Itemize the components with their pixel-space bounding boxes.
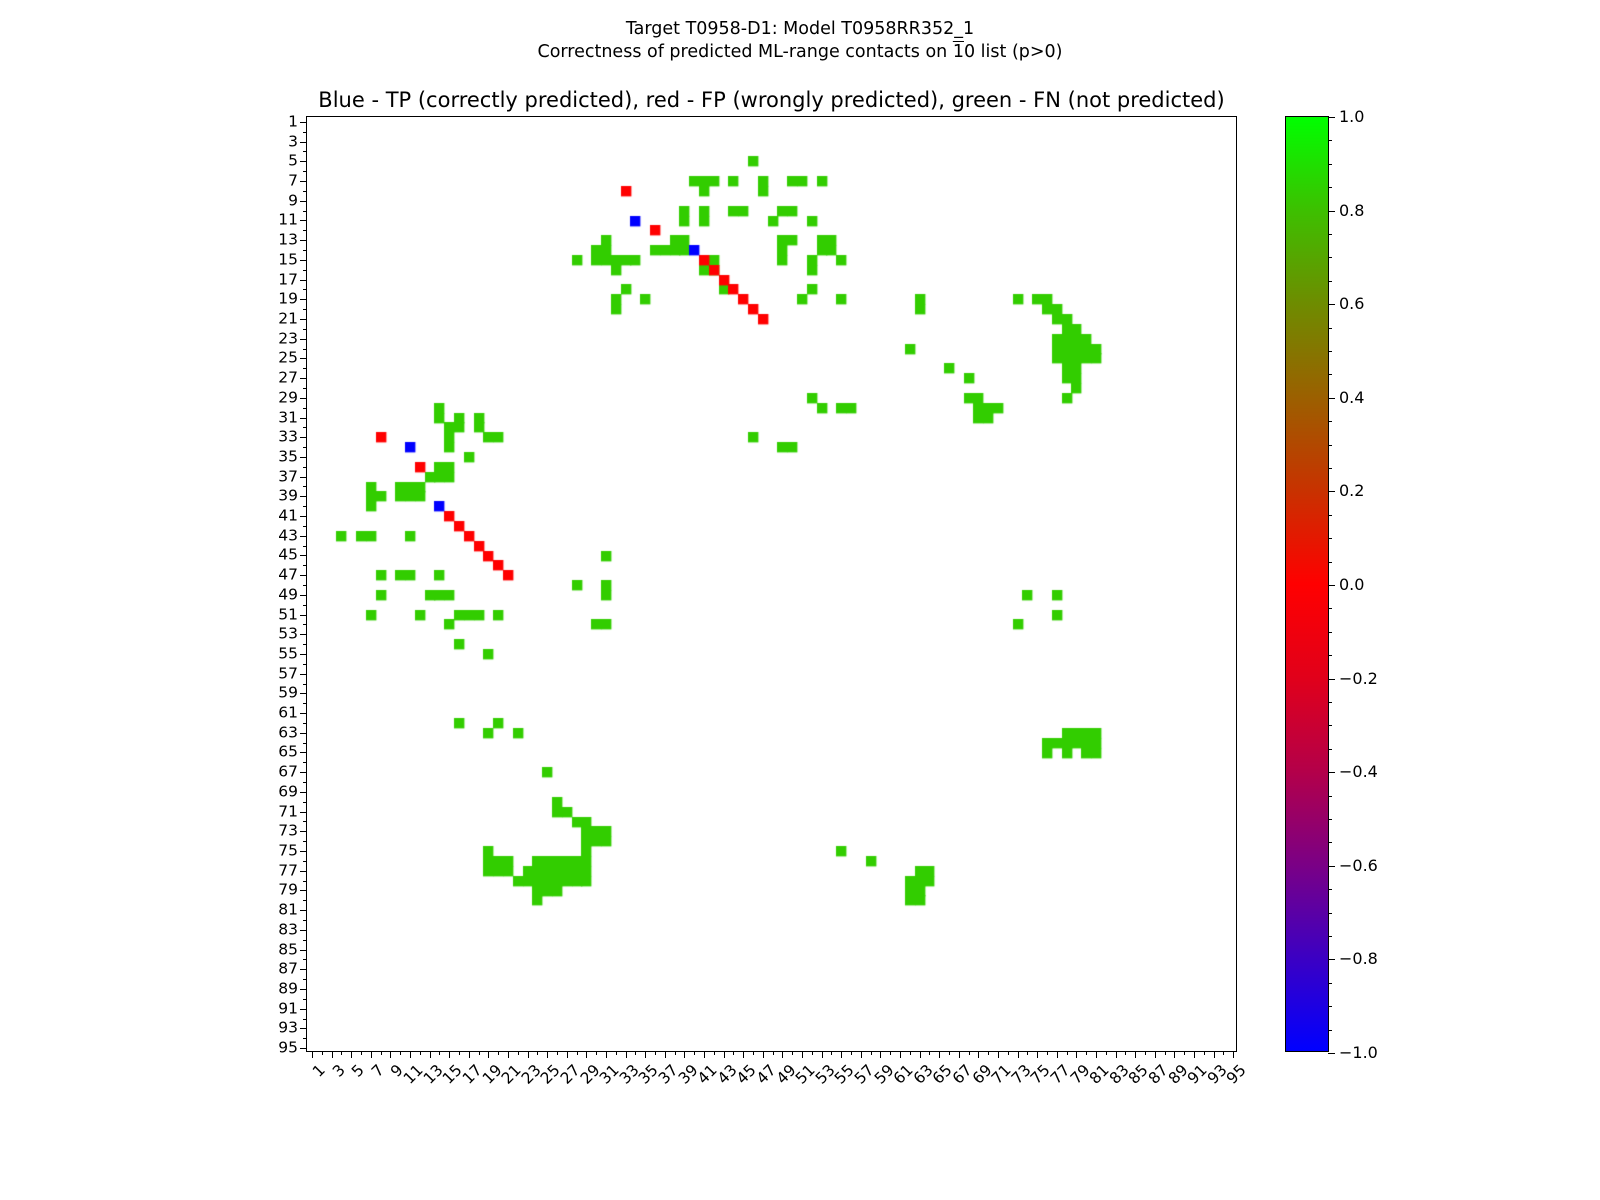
y-tick-minor xyxy=(303,841,307,842)
y-tick-major xyxy=(300,496,307,497)
y-tick-major xyxy=(300,989,307,990)
y-tick-minor xyxy=(303,270,307,271)
x-tick-major xyxy=(978,1051,979,1058)
x-tick-major xyxy=(1076,1051,1077,1058)
y-tick-major xyxy=(300,752,307,753)
colorbar-tick xyxy=(1328,679,1335,680)
y-tick-major xyxy=(300,437,307,438)
x-tick-major xyxy=(802,1051,803,1058)
y-tick-minor xyxy=(303,486,307,487)
colorbar-tick-minor xyxy=(1328,1030,1332,1031)
y-tick-label: 91 xyxy=(278,1001,298,1017)
x-tick-major xyxy=(822,1051,823,1058)
x-tick-minor xyxy=(910,1051,911,1055)
y-tick-major xyxy=(300,772,307,773)
colorbar-tick-minor xyxy=(1328,842,1332,843)
x-tick-major xyxy=(606,1051,607,1058)
y-tick-label: 55 xyxy=(278,646,298,662)
y-tick-minor xyxy=(303,881,307,882)
y-tick-label: 71 xyxy=(278,804,298,820)
x-tick-major xyxy=(684,1051,685,1058)
y-tick-major xyxy=(300,299,307,300)
y-tick-label: 17 xyxy=(278,272,298,288)
y-tick-label: 39 xyxy=(278,489,298,505)
colorbar-tick-minor xyxy=(1328,655,1332,656)
x-tick-minor xyxy=(1125,1051,1126,1055)
x-tick-minor xyxy=(753,1051,754,1055)
x-tick-major xyxy=(880,1051,881,1058)
y-tick-major xyxy=(300,201,307,202)
x-tick-major xyxy=(586,1051,587,1058)
y-tick-minor xyxy=(303,349,307,350)
y-tick-label: 13 xyxy=(278,232,298,248)
y-tick-major xyxy=(300,969,307,970)
contact-map-canvas[interactable] xyxy=(307,117,1238,1053)
x-tick-major xyxy=(469,1051,470,1058)
y-tick-minor xyxy=(303,250,307,251)
colorbar-tick-minor xyxy=(1328,234,1332,235)
y-tick-major xyxy=(300,930,307,931)
colorbar-tick xyxy=(1328,772,1335,773)
colorbar-tick-minor xyxy=(1328,374,1332,375)
y-tick-major xyxy=(300,260,307,261)
y-tick-label: 85 xyxy=(278,942,298,958)
x-tick-major xyxy=(332,1051,333,1058)
y-tick-minor xyxy=(303,900,307,901)
y-tick-major xyxy=(300,950,307,951)
suptitle-line-2: Correctness of predicted ML-range contac… xyxy=(0,41,1600,64)
x-tick-minor xyxy=(381,1051,382,1055)
x-tick-major xyxy=(390,1051,391,1058)
y-tick-label: 51 xyxy=(278,607,298,623)
x-tick-minor xyxy=(361,1051,362,1055)
x-tick-minor xyxy=(1165,1051,1166,1055)
x-tick-major xyxy=(724,1051,725,1058)
x-tick-major xyxy=(449,1051,450,1058)
colorbar-tick xyxy=(1328,866,1335,867)
x-tick-major xyxy=(1018,1051,1019,1058)
y-tick-minor xyxy=(303,861,307,862)
x-tick-minor xyxy=(1184,1051,1185,1055)
y-tick-minor xyxy=(303,664,307,665)
y-tick-major xyxy=(300,516,307,517)
y-tick-major xyxy=(300,1028,307,1029)
colorbar-tick-label: 0.4 xyxy=(1339,390,1364,406)
colorbar-tick xyxy=(1328,211,1335,212)
x-tick-major xyxy=(1096,1051,1097,1058)
y-tick-minor xyxy=(303,999,307,1000)
x-tick-minor xyxy=(812,1051,813,1055)
y-tick-major xyxy=(300,181,307,182)
y-tick-minor xyxy=(303,546,307,547)
colorbar-tick-minor xyxy=(1328,421,1332,422)
x-tick-major xyxy=(488,1051,489,1058)
x-tick-minor xyxy=(714,1051,715,1055)
y-tick-major xyxy=(300,1009,307,1010)
axes-title: Blue - TP (correctly predicted), red - F… xyxy=(306,88,1237,112)
suptitle-line-1: Target T0958-D1: Model T0958RR352_1 xyxy=(0,18,1600,41)
y-tick-minor xyxy=(303,467,307,468)
y-tick-major xyxy=(300,457,307,458)
colorbar-tick-label: −0.2 xyxy=(1339,671,1378,687)
y-tick-minor xyxy=(303,171,307,172)
x-tick-minor xyxy=(733,1051,734,1055)
x-tick-major xyxy=(410,1051,411,1058)
y-tick-label: 9 xyxy=(288,193,298,209)
x-tick-minor xyxy=(851,1051,852,1055)
colorbar-tick-minor xyxy=(1328,749,1332,750)
x-tick-minor xyxy=(1086,1051,1087,1055)
colorbar-tick-minor xyxy=(1328,328,1332,329)
y-tick-label: 29 xyxy=(278,390,298,406)
colorbar-tick-minor xyxy=(1328,187,1332,188)
x-tick-major xyxy=(1135,1051,1136,1058)
suptitle-line-2-pre: Correctness of predicted ML-range contac… xyxy=(537,42,952,62)
y-tick-minor xyxy=(303,821,307,822)
y-tick-minor xyxy=(303,743,307,744)
y-tick-major xyxy=(300,693,307,694)
x-tick-major xyxy=(959,1051,960,1058)
y-tick-major xyxy=(300,418,307,419)
colorbar-tick-minor xyxy=(1328,983,1332,984)
y-tick-minor xyxy=(303,979,307,980)
y-tick-label: 87 xyxy=(278,962,298,978)
y-tick-minor xyxy=(303,624,307,625)
colorbar-tick-minor xyxy=(1328,164,1332,165)
y-tick-minor xyxy=(303,959,307,960)
x-tick-major xyxy=(998,1051,999,1058)
x-tick-minor xyxy=(831,1051,832,1055)
y-tick-minor xyxy=(303,1019,307,1020)
y-tick-major xyxy=(300,792,307,793)
y-tick-label: 79 xyxy=(278,883,298,899)
x-tick-major xyxy=(351,1051,352,1058)
colorbar-tick-minor xyxy=(1328,468,1332,469)
y-tick-minor xyxy=(303,191,307,192)
x-tick-minor xyxy=(675,1051,676,1055)
x-tick-major xyxy=(1194,1051,1195,1058)
colorbar-tick-minor xyxy=(1328,1006,1332,1007)
colorbar-tick-label: 0.8 xyxy=(1339,203,1364,219)
colorbar[interactable]: 1.00.80.60.40.20.0−0.2−0.4−0.6−0.8−1.0 xyxy=(1285,116,1329,1052)
y-tick-major xyxy=(300,910,307,911)
y-tick-minor xyxy=(303,565,307,566)
y-tick-minor xyxy=(303,920,307,921)
x-tick-minor xyxy=(890,1051,891,1055)
y-tick-minor xyxy=(303,526,307,527)
y-tick-label: 43 xyxy=(278,528,298,544)
colorbar-tick-minor xyxy=(1328,702,1332,703)
colorbar-tick-minor xyxy=(1328,538,1332,539)
y-tick-label: 75 xyxy=(278,843,298,859)
x-tick-minor xyxy=(871,1051,872,1055)
y-tick-minor xyxy=(303,684,307,685)
x-tick-major xyxy=(704,1051,705,1058)
y-tick-label: 95 xyxy=(278,1040,298,1056)
colorbar-tick-minor xyxy=(1328,889,1332,890)
x-tick-major xyxy=(939,1051,940,1058)
x-tick-label: 5 xyxy=(350,1062,368,1080)
colorbar-tick-minor xyxy=(1328,913,1332,914)
y-tick-label: 23 xyxy=(278,331,298,347)
colorbar-tick-label: −1.0 xyxy=(1339,1045,1378,1061)
colorbar-tick-minor xyxy=(1328,562,1332,563)
x-tick-minor xyxy=(1204,1051,1205,1055)
y-tick-label: 41 xyxy=(278,508,298,524)
colorbar-tick-minor xyxy=(1328,140,1332,141)
y-tick-label: 49 xyxy=(278,587,298,603)
x-tick-major xyxy=(312,1051,313,1058)
colorbar-tick-label: 0.2 xyxy=(1339,483,1364,499)
y-tick-label: 15 xyxy=(278,252,298,268)
x-tick-major xyxy=(430,1051,431,1058)
y-tick-label: 19 xyxy=(278,292,298,308)
y-tick-label: 81 xyxy=(278,902,298,918)
y-tick-label: 77 xyxy=(278,863,298,879)
colorbar-tick-label: −0.4 xyxy=(1339,764,1378,780)
y-tick-minor xyxy=(303,329,307,330)
y-tick-major xyxy=(300,575,307,576)
x-tick-minor xyxy=(655,1051,656,1055)
x-tick-major xyxy=(763,1051,764,1058)
x-tick-major xyxy=(900,1051,901,1058)
x-tick-minor xyxy=(1008,1051,1009,1055)
x-tick-minor xyxy=(459,1051,460,1055)
y-tick-major xyxy=(300,555,307,556)
x-tick-minor xyxy=(498,1051,499,1055)
y-tick-label: 57 xyxy=(278,666,298,682)
y-tick-minor xyxy=(303,782,307,783)
y-tick-minor xyxy=(303,132,307,133)
colorbar-tick-minor xyxy=(1328,819,1332,820)
x-tick-minor xyxy=(537,1051,538,1055)
y-tick-minor xyxy=(303,762,307,763)
y-tick-minor xyxy=(303,408,307,409)
y-tick-major xyxy=(300,280,307,281)
x-tick-major xyxy=(1233,1051,1234,1058)
y-tick-label: 31 xyxy=(278,410,298,426)
x-tick-major xyxy=(626,1051,627,1058)
x-tick-minor xyxy=(400,1051,401,1055)
y-tick-major xyxy=(300,378,307,379)
y-tick-minor xyxy=(303,802,307,803)
x-tick-major xyxy=(1214,1051,1215,1058)
y-tick-major xyxy=(300,122,307,123)
colorbar-tick xyxy=(1328,585,1335,586)
x-tick-minor xyxy=(1106,1051,1107,1055)
colorbar-tick xyxy=(1328,1053,1335,1054)
y-tick-label: 27 xyxy=(278,370,298,386)
x-tick-major xyxy=(1057,1051,1058,1058)
y-tick-major xyxy=(300,831,307,832)
x-tick-label: 95 xyxy=(1225,1062,1250,1087)
x-tick-minor xyxy=(322,1051,323,1055)
y-tick-major xyxy=(300,851,307,852)
y-tick-minor xyxy=(303,447,307,448)
x-tick-major xyxy=(371,1051,372,1058)
x-tick-label: 7 xyxy=(369,1062,387,1080)
y-tick-major xyxy=(300,161,307,162)
y-tick-major xyxy=(300,634,307,635)
y-tick-label: 61 xyxy=(278,705,298,721)
y-tick-label: 69 xyxy=(278,784,298,800)
x-tick-minor xyxy=(479,1051,480,1055)
y-tick-label: 37 xyxy=(278,469,298,485)
x-tick-minor xyxy=(929,1051,930,1055)
y-tick-minor xyxy=(303,309,307,310)
y-tick-minor xyxy=(303,1038,307,1039)
x-tick-minor xyxy=(518,1051,519,1055)
y-tick-major xyxy=(300,240,307,241)
x-tick-major xyxy=(645,1051,646,1058)
x-tick-minor xyxy=(694,1051,695,1055)
colorbar-tick-minor xyxy=(1328,281,1332,282)
y-tick-minor xyxy=(303,427,307,428)
x-tick-minor xyxy=(596,1051,597,1055)
x-tick-minor xyxy=(1223,1051,1224,1055)
y-tick-major xyxy=(300,812,307,813)
x-tick-minor xyxy=(577,1051,578,1055)
figure-title-block: Target T0958-D1: Model T0958RR352_1 Corr… xyxy=(0,18,1600,64)
x-tick-minor xyxy=(773,1051,774,1055)
x-tick-minor xyxy=(557,1051,558,1055)
y-tick-minor xyxy=(303,368,307,369)
x-tick-label: 1 xyxy=(310,1062,328,1080)
x-tick-major xyxy=(920,1051,921,1058)
y-tick-label: 93 xyxy=(278,1021,298,1037)
x-tick-minor xyxy=(1027,1051,1028,1055)
colorbar-tick xyxy=(1328,959,1335,960)
colorbar-tick-minor xyxy=(1328,796,1332,797)
x-tick-minor xyxy=(439,1051,440,1055)
y-tick-minor xyxy=(303,644,307,645)
x-tick-major xyxy=(841,1051,842,1058)
y-tick-major xyxy=(300,733,307,734)
y-tick-minor xyxy=(303,151,307,152)
y-tick-label: 67 xyxy=(278,764,298,780)
colorbar-tick-minor xyxy=(1328,632,1332,633)
y-tick-minor xyxy=(303,289,307,290)
colorbar-tick-minor xyxy=(1328,351,1332,352)
x-tick-major xyxy=(743,1051,744,1058)
y-tick-label: 47 xyxy=(278,567,298,583)
y-tick-label: 59 xyxy=(278,686,298,702)
y-tick-label: 45 xyxy=(278,548,298,564)
x-tick-minor xyxy=(1145,1051,1146,1055)
y-tick-major xyxy=(300,890,307,891)
x-tick-minor xyxy=(341,1051,342,1055)
y-tick-label: 89 xyxy=(278,981,298,997)
y-tick-minor xyxy=(303,388,307,389)
x-tick-minor xyxy=(1047,1051,1048,1055)
y-tick-major xyxy=(300,1048,307,1049)
colorbar-tick-label: 0.0 xyxy=(1339,577,1364,593)
y-tick-major xyxy=(300,595,307,596)
x-tick-major xyxy=(547,1051,548,1058)
y-tick-label: 65 xyxy=(278,745,298,761)
x-tick-minor xyxy=(1067,1051,1068,1055)
y-tick-label: 63 xyxy=(278,725,298,741)
y-tick-major xyxy=(300,220,307,221)
y-tick-major xyxy=(300,674,307,675)
x-tick-minor xyxy=(792,1051,793,1055)
y-tick-major xyxy=(300,319,307,320)
y-tick-major xyxy=(300,871,307,872)
colorbar-tick xyxy=(1328,398,1335,399)
x-tick-major xyxy=(1155,1051,1156,1058)
colorbar-tick-minor xyxy=(1328,515,1332,516)
y-tick-major xyxy=(300,713,307,714)
y-tick-minor xyxy=(303,506,307,507)
y-tick-major xyxy=(300,398,307,399)
y-tick-minor xyxy=(303,211,307,212)
x-tick-major xyxy=(1037,1051,1038,1058)
x-tick-minor xyxy=(988,1051,989,1055)
x-tick-major xyxy=(782,1051,783,1058)
x-tick-minor xyxy=(420,1051,421,1055)
y-tick-label: 5 xyxy=(288,154,298,170)
colorbar-tick-minor xyxy=(1328,257,1332,258)
y-tick-minor xyxy=(303,605,307,606)
suptitle-line-2-post: 0 list (p>0) xyxy=(964,42,1063,62)
y-tick-major xyxy=(300,358,307,359)
y-tick-minor xyxy=(303,230,307,231)
y-tick-minor xyxy=(303,703,307,704)
contact-map-plot[interactable]: 1357911131517192123252729313335373941434… xyxy=(306,116,1237,1052)
y-tick-minor xyxy=(303,723,307,724)
y-tick-label: 73 xyxy=(278,824,298,840)
x-tick-major xyxy=(861,1051,862,1058)
colorbar-tick-label: −0.8 xyxy=(1339,951,1378,967)
colorbar-tick-minor xyxy=(1328,936,1332,937)
colorbar-tick xyxy=(1328,117,1335,118)
y-tick-label: 25 xyxy=(278,351,298,367)
x-tick-major xyxy=(528,1051,529,1058)
y-tick-major xyxy=(300,615,307,616)
y-tick-label: 11 xyxy=(278,213,298,229)
y-tick-minor xyxy=(303,585,307,586)
x-tick-major xyxy=(1174,1051,1175,1058)
colorbar-tick-label: 0.6 xyxy=(1339,296,1364,312)
colorbar-tick-minor xyxy=(1328,608,1332,609)
y-tick-label: 7 xyxy=(288,173,298,189)
y-tick-major xyxy=(300,536,307,537)
x-tick-minor xyxy=(635,1051,636,1055)
y-tick-major xyxy=(300,654,307,655)
y-tick-major xyxy=(300,477,307,478)
x-tick-major xyxy=(508,1051,509,1058)
x-tick-minor xyxy=(616,1051,617,1055)
y-tick-label: 1 xyxy=(288,114,298,130)
colorbar-tick xyxy=(1328,304,1335,305)
y-tick-label: 21 xyxy=(278,311,298,327)
colorbar-tick-minor xyxy=(1328,725,1332,726)
y-tick-label: 3 xyxy=(288,134,298,150)
x-tick-minor xyxy=(949,1051,950,1055)
colorbar-tick-minor xyxy=(1328,445,1332,446)
suptitle-overline-digit: 1 xyxy=(953,42,964,62)
colorbar-tick xyxy=(1328,491,1335,492)
colorbar-tick-label: −0.6 xyxy=(1339,858,1378,874)
colorbar-tick-label: 1.0 xyxy=(1339,109,1364,125)
x-tick-major xyxy=(1116,1051,1117,1058)
y-tick-label: 53 xyxy=(278,627,298,643)
x-tick-minor xyxy=(969,1051,970,1055)
y-tick-label: 33 xyxy=(278,429,298,445)
y-tick-label: 83 xyxy=(278,922,298,938)
x-tick-label: 3 xyxy=(330,1062,348,1080)
y-tick-label: 35 xyxy=(278,449,298,465)
